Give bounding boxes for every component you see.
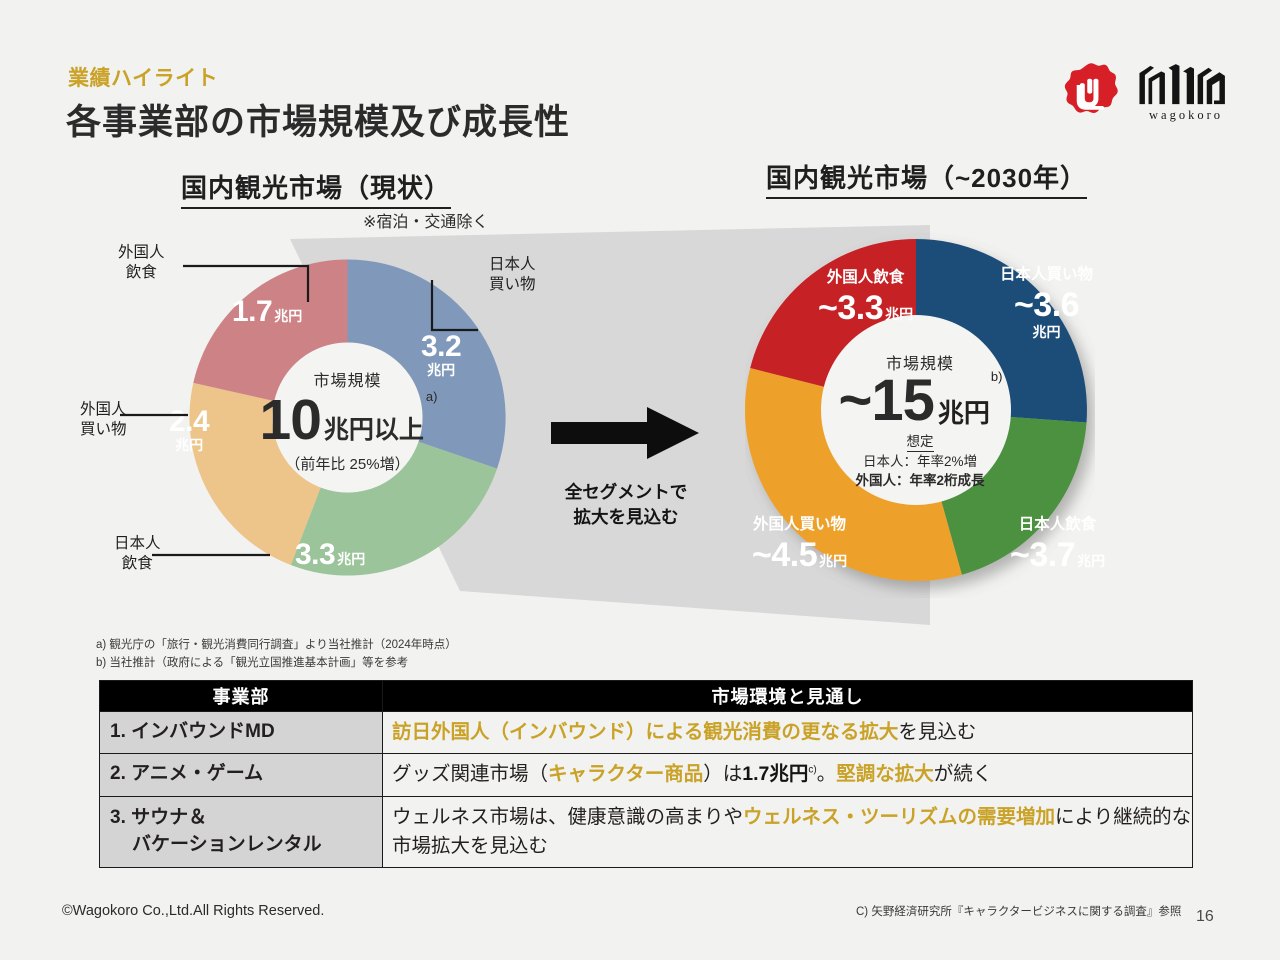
left-value-foreign-shopping: 2.4 兆円 <box>169 405 209 455</box>
segment-outlook-table: 事業部 市場環境と見通し 1. インバウンドMD 訪日外国人（インバウンド）によ… <box>99 680 1193 868</box>
left-chart-note: ※宿泊・交通除く <box>363 208 488 232</box>
right-arrow-icon <box>551 405 701 461</box>
right-label-jp-shopping: 日本人買い物 ~3.6 兆円 <box>1000 262 1093 342</box>
right-label-foreign-shopping: 外国人買い物 ~4.5兆円 <box>752 512 847 575</box>
left-center-value: 10 <box>260 393 321 447</box>
company-logo: wagokoro <box>1038 58 1234 130</box>
right-label-foreign-food: 外国人飲食 ~3.3兆円 <box>818 265 913 328</box>
left-center-label: 市場規模 <box>185 367 510 391</box>
copyright-text: ©Wagokoro Co.,Ltd.All Rights Reserved. <box>62 903 324 919</box>
table-row: 1. インバウンドMD 訪日外国人（インバウンド）による観光消費の更なる拡大を見… <box>100 712 1193 754</box>
slide-eyebrow: 業績ハイライト <box>68 62 218 92</box>
callout-jp-food: 日本人飲食 <box>114 534 161 574</box>
col-header-segment: 事業部 <box>100 681 383 712</box>
left-chart-heading: 国内観光市場（現状） <box>181 168 451 209</box>
right-center-assumptions: 想定 日本人：年率2%増 外国人：年率2桁成長 <box>745 432 1095 490</box>
right-center-footnote-ref: b) <box>991 369 1003 384</box>
left-donut-center: 市場規模 10兆円以上a) （前年比 25%増） <box>185 367 510 474</box>
cell-outlook-1: 訪日外国人（インバウンド）による観光消費の更なる拡大を見込む <box>383 712 1193 754</box>
right-donut-center: 市場規模 ~15兆円b) 想定 日本人：年率2%増 外国人：年率2桁成長 <box>745 350 1095 490</box>
right-center-unit: 兆円 <box>938 393 990 430</box>
transition-arrow-block: 全セグメントで 拡大を見込む <box>546 405 706 531</box>
left-value-foreign-food: 1.7兆円 <box>232 295 302 329</box>
slide: 業績ハイライト 各事業部の市場規模及び成長性 wagokoro 国内観光市場（現… <box>0 0 1280 960</box>
left-value-jp-shopping: 3.2 兆円 <box>421 330 461 380</box>
wagokoro-flower-seal-icon <box>1060 62 1122 124</box>
cell-outlook-2: グッズ関連市場（キャラクター商品）は1.7兆円c)。堅調な拡大が続く <box>383 754 1193 796</box>
source-note: C) 矢野経済研究所『キャラクタービジネスに関する調査』参照 <box>856 903 1181 919</box>
page-title: 各事業部の市場規模及び成長性 <box>66 94 570 145</box>
right-center-value: ~15 <box>839 372 934 430</box>
col-header-outlook: 市場環境と見通し <box>383 681 1193 712</box>
page-number: 16 <box>1196 908 1214 926</box>
callout-jp-shopping: 日本人買い物 <box>489 255 536 295</box>
wagokoro-kanji-logotype-icon <box>1134 60 1234 110</box>
cell-segment-2: 2. アニメ・ゲーム <box>100 754 383 796</box>
transition-arrow-text: 全セグメントで 拡大を見込む <box>546 480 706 531</box>
right-chart-heading: 国内観光市場（~2030年） <box>766 158 1087 199</box>
logo-wordmark: wagokoro <box>1134 108 1238 123</box>
cell-outlook-3: ウェルネス市場は、健康意識の高まりやウェルネス・ツーリズムの需要増加により継続的… <box>383 796 1193 868</box>
left-center-unit: 兆円以上 <box>324 410 424 446</box>
table-row: 3. サウナ＆ バケーションレンタル ウェルネス市場は、健康意識の高まりやウェル… <box>100 796 1193 868</box>
right-label-jp-food: 日本人飲食 ~3.7兆円 <box>1010 512 1105 575</box>
left-value-jp-food: 3.3兆円 <box>295 538 365 572</box>
left-center-footnote-ref: a) <box>426 389 438 404</box>
callout-foreign-shopping: 外国人買い物 <box>80 400 127 440</box>
footnote-a: a) 観光庁の「旅行・観光消費同行調査」より当社推計（2024年時点） <box>96 637 457 655</box>
callout-foreign-food: 外国人飲食 <box>118 243 165 283</box>
left-center-subnote: （前年比 25%増） <box>185 453 510 474</box>
cell-segment-1: 1. インバウンドMD <box>100 712 383 754</box>
chart-footnotes: a) 観光庁の「旅行・観光消費同行調査」より当社推計（2024年時点） b) 当… <box>96 637 457 673</box>
table-row: 2. アニメ・ゲーム グッズ関連市場（キャラクター商品）は1.7兆円c)。堅調な… <box>100 754 1193 796</box>
table-header-row: 事業部 市場環境と見通し <box>100 681 1193 712</box>
cell-segment-3: 3. サウナ＆ バケーションレンタル <box>100 796 383 868</box>
footnote-b: b) 当社推計（政府による「観光立国推進基本計画」等を参考 <box>96 655 457 673</box>
